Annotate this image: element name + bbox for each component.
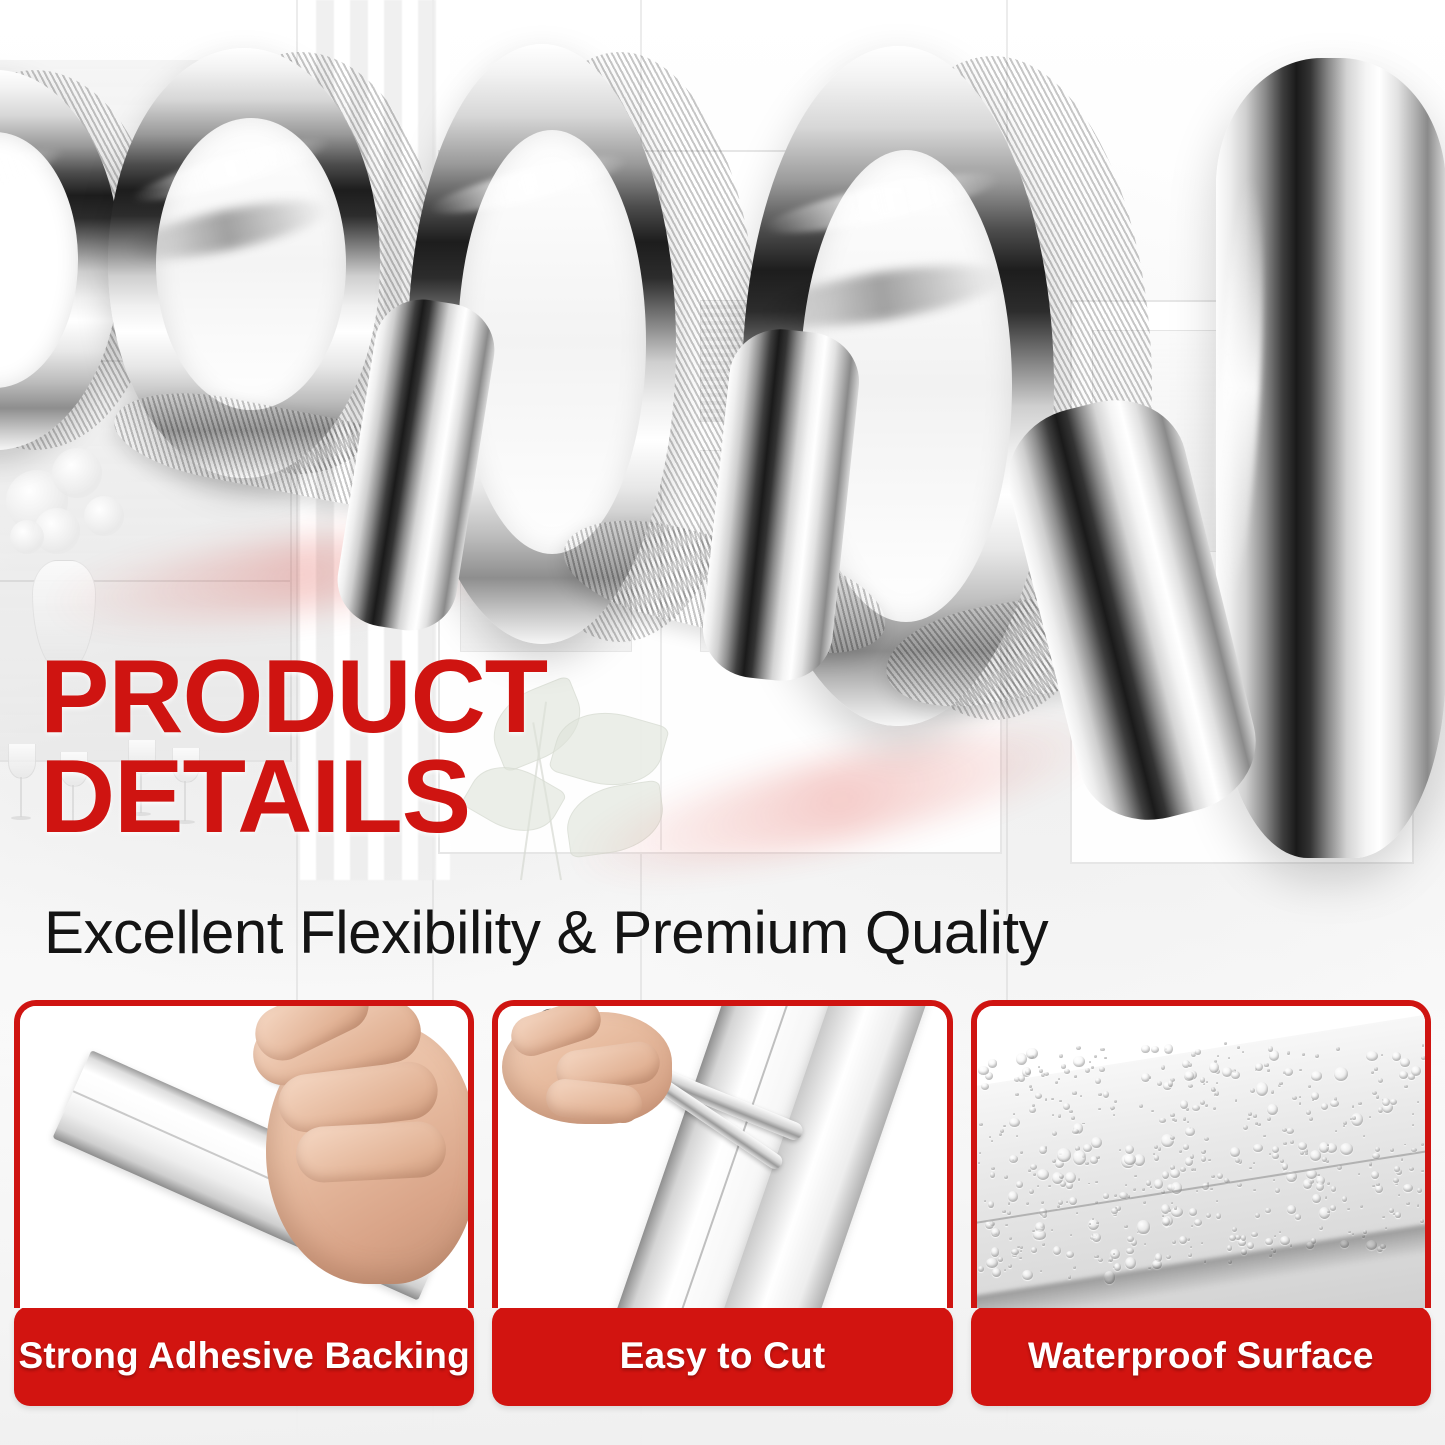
water-drop xyxy=(1143,1201,1146,1204)
water-drop xyxy=(1124,1225,1128,1228)
water-drop xyxy=(1057,1148,1071,1162)
water-drop xyxy=(984,1200,986,1202)
water-drop xyxy=(1141,1045,1150,1054)
water-drop xyxy=(1019,1257,1021,1259)
water-drop xyxy=(1022,1270,1032,1280)
water-drop xyxy=(992,1268,1002,1277)
water-drop xyxy=(990,1172,995,1178)
water-drop xyxy=(1187,1121,1190,1123)
water-drop xyxy=(1251,1232,1258,1238)
water-drop xyxy=(1003,1125,1006,1127)
water-drop xyxy=(1232,1227,1237,1232)
water-drop xyxy=(1376,1095,1380,1099)
water-drop xyxy=(1398,1194,1400,1196)
water-drop xyxy=(1066,1182,1072,1188)
water-drop xyxy=(1069,1110,1073,1113)
water-drop xyxy=(1091,1137,1102,1148)
water-drop xyxy=(1230,1147,1240,1157)
water-drop xyxy=(1284,1068,1293,1076)
water-drop xyxy=(1389,1208,1394,1213)
water-drop xyxy=(1008,1264,1012,1268)
water-drop xyxy=(1286,1128,1295,1135)
water-drop xyxy=(1311,1071,1322,1081)
water-drop xyxy=(1330,1100,1339,1107)
water-drop xyxy=(1241,1235,1246,1241)
water-drop xyxy=(1045,1098,1048,1101)
water-drop xyxy=(1229,1235,1236,1242)
water-drop xyxy=(1114,1100,1117,1103)
water-drop xyxy=(1180,1167,1186,1172)
water-drop xyxy=(1059,1054,1063,1058)
water-drop xyxy=(1100,1048,1105,1052)
page-title: PRODUCT DETAILS xyxy=(40,648,1040,848)
water-drop xyxy=(1401,1158,1403,1161)
water-drop xyxy=(1150,1186,1152,1188)
water-drop xyxy=(1171,1202,1173,1204)
water-drop xyxy=(1390,1099,1397,1105)
water-drop xyxy=(1029,1085,1032,1088)
water-drop xyxy=(1247,1118,1250,1120)
water-drop xyxy=(991,1140,994,1142)
water-drop xyxy=(1058,1114,1061,1117)
water-drop xyxy=(1037,1185,1039,1187)
water-drop xyxy=(1312,1099,1314,1101)
water-drop xyxy=(1179,1150,1182,1153)
water-drop xyxy=(1071,1116,1075,1120)
feature-card-waterproof[interactable]: Waterproof Surface xyxy=(971,1000,1431,1420)
water-drop xyxy=(1180,1100,1189,1109)
water-drop xyxy=(1217,1055,1219,1057)
water-drop xyxy=(1211,1175,1216,1179)
water-drop xyxy=(1319,1207,1330,1219)
water-drop xyxy=(1026,1202,1029,1205)
water-drop xyxy=(1072,1091,1076,1095)
water-drop xyxy=(1073,1150,1086,1165)
water-drop xyxy=(1399,1071,1408,1079)
water-drop xyxy=(1327,1182,1330,1186)
water-drop xyxy=(1099,1067,1104,1073)
water-drop xyxy=(1317,1174,1320,1177)
water-drop xyxy=(1029,1189,1034,1194)
water-drop xyxy=(1358,1102,1361,1105)
water-drop xyxy=(1366,1051,1378,1062)
water-drop xyxy=(1417,1204,1419,1207)
water-drop xyxy=(1005,1224,1008,1226)
water-drop xyxy=(1319,1226,1323,1230)
water-drop xyxy=(1159,1118,1166,1123)
water-drop xyxy=(1059,1100,1062,1103)
water-drop xyxy=(1029,1107,1036,1114)
feature-photo-frame xyxy=(971,1000,1431,1308)
water-drop xyxy=(1092,1233,1101,1243)
water-drop xyxy=(1009,1237,1012,1240)
water-drop xyxy=(1394,1166,1400,1172)
water-drop xyxy=(1020,1250,1023,1253)
water-drop xyxy=(1161,1065,1166,1070)
water-drop xyxy=(1144,1243,1146,1245)
water-drop xyxy=(1206,1213,1211,1218)
water-drop xyxy=(1164,1044,1173,1054)
water-drop xyxy=(1133,1188,1136,1191)
water-drop xyxy=(1158,1147,1161,1150)
water-drop xyxy=(1231,1071,1240,1079)
water-drop xyxy=(1208,1159,1210,1161)
water-drop xyxy=(1058,1078,1060,1080)
water-drop xyxy=(1390,1148,1394,1152)
water-drop xyxy=(1287,1205,1297,1214)
water-drop xyxy=(1331,1186,1336,1191)
water-drop xyxy=(1038,1066,1040,1068)
water-drop xyxy=(1191,1168,1194,1172)
water-drop xyxy=(1255,1063,1263,1071)
water-drop xyxy=(1039,1146,1047,1154)
water-drop xyxy=(1059,1174,1065,1180)
water-drop xyxy=(1274,1235,1276,1237)
water-drop xyxy=(1188,1063,1192,1067)
water-drop xyxy=(1055,1081,1058,1084)
water-drop xyxy=(1080,1095,1082,1097)
water-drop xyxy=(1187,1238,1191,1242)
water-drop xyxy=(1104,1057,1106,1059)
water-drop xyxy=(1154,1179,1163,1189)
water-drop xyxy=(1066,1251,1074,1258)
water-drop xyxy=(1073,1266,1076,1269)
water-drop xyxy=(1216,1200,1219,1202)
water-drop xyxy=(1191,1225,1194,1228)
water-drop xyxy=(1352,1105,1354,1107)
water-drop xyxy=(1299,1069,1302,1072)
water-drop xyxy=(1007,1211,1010,1215)
feature-card-list: Strong Adhesive Backing xyxy=(0,1000,1445,1420)
water-drop xyxy=(1174,1119,1177,1122)
water-drop xyxy=(1033,1173,1036,1176)
water-drop xyxy=(1213,1107,1216,1110)
water-drop xyxy=(1170,1136,1175,1140)
water-drop xyxy=(1085,1162,1089,1166)
water-drop xyxy=(1172,1240,1176,1244)
water-drop xyxy=(1308,1085,1311,1088)
water-drop xyxy=(1154,1155,1159,1161)
water-drop xyxy=(979,1152,981,1154)
water-drop xyxy=(1042,1243,1045,1246)
water-drop xyxy=(1184,1071,1194,1081)
water-drop xyxy=(1095,1078,1101,1084)
water-drop xyxy=(1263,1135,1265,1138)
water-drop-icon xyxy=(977,1006,1425,1308)
water-drop xyxy=(1420,1219,1424,1223)
water-drop xyxy=(1310,1150,1322,1161)
water-drop xyxy=(1204,1137,1209,1141)
water-drop xyxy=(1347,1208,1350,1210)
water-drop xyxy=(1035,1093,1042,1099)
water-drop xyxy=(1306,1110,1311,1115)
water-drop xyxy=(1052,1131,1057,1136)
water-drop xyxy=(1210,1188,1212,1190)
water-drop xyxy=(999,1133,1002,1136)
water-drop xyxy=(1326,1160,1330,1163)
water-drop xyxy=(1195,1049,1201,1054)
water-drop xyxy=(1092,1218,1094,1220)
water-drop xyxy=(1183,1117,1186,1121)
water-drop xyxy=(1089,1061,1091,1063)
water-drop xyxy=(1342,1196,1347,1201)
water-drop xyxy=(1305,1152,1308,1155)
water-drop xyxy=(1290,1140,1294,1144)
water-drop xyxy=(1422,1044,1424,1046)
water-drop xyxy=(1382,1098,1390,1106)
water-drop xyxy=(1125,1257,1136,1269)
water-drop xyxy=(1013,1113,1016,1115)
water-drop xyxy=(1162,1171,1169,1179)
water-drop xyxy=(988,1059,998,1067)
water-drop xyxy=(1069,1197,1076,1205)
water-drop xyxy=(1299,1102,1302,1105)
water-drop xyxy=(1052,1114,1055,1116)
feature-caption-waterproof: Waterproof Surface xyxy=(971,1306,1431,1406)
water-drop xyxy=(1151,1110,1154,1113)
water-drop xyxy=(1417,1101,1419,1103)
water-drop xyxy=(1020,1151,1023,1154)
water-drop xyxy=(979,1123,984,1127)
water-drop xyxy=(1376,1183,1379,1186)
water-drop xyxy=(1249,1167,1252,1169)
water-drop xyxy=(1209,1062,1219,1073)
water-drop xyxy=(1216,1082,1218,1084)
water-drop xyxy=(978,1162,980,1164)
water-drop xyxy=(1358,1173,1360,1175)
water-drop xyxy=(1348,1231,1351,1233)
water-drop xyxy=(1421,1056,1425,1060)
water-drop xyxy=(1042,1213,1047,1218)
water-drop xyxy=(1125,1184,1127,1186)
water-drop xyxy=(1303,1179,1313,1189)
water-drop xyxy=(1037,1169,1049,1180)
water-drop xyxy=(1395,1212,1400,1218)
water-drop xyxy=(1091,1066,1094,1069)
water-drop xyxy=(1149,1076,1152,1079)
water-drop xyxy=(1242,1051,1244,1053)
water-drop xyxy=(1404,1144,1406,1146)
water-drop xyxy=(998,1257,1004,1262)
feature-caption-adhesive: Strong Adhesive Backing xyxy=(14,1306,474,1406)
water-drop xyxy=(1406,1202,1410,1206)
water-drop xyxy=(1253,1144,1263,1152)
water-drop xyxy=(1279,1231,1281,1233)
water-drop xyxy=(1189,1208,1197,1215)
water-drop xyxy=(1375,1185,1383,1193)
water-drop xyxy=(1248,1112,1252,1116)
water-drop xyxy=(1269,1050,1279,1060)
water-drop xyxy=(1371,1171,1380,1179)
water-drop xyxy=(1094,1055,1098,1059)
water-drop xyxy=(1316,1182,1325,1191)
water-drop xyxy=(1016,1135,1018,1137)
water-drop xyxy=(1302,1053,1305,1056)
water-drop xyxy=(1015,1093,1019,1097)
water-drop xyxy=(1381,1054,1383,1056)
water-drop xyxy=(1186,1108,1188,1110)
water-drop xyxy=(1325,1196,1328,1199)
water-drop xyxy=(1088,1183,1090,1185)
water-drop xyxy=(1334,1067,1348,1081)
water-drop xyxy=(1272,1153,1279,1160)
water-drop xyxy=(1395,1183,1398,1185)
water-drop xyxy=(1253,1114,1257,1117)
water-drop xyxy=(1190,1154,1194,1158)
water-drop xyxy=(1309,1117,1313,1121)
feature-card-cut[interactable]: Easy to Cut xyxy=(492,1000,952,1420)
water-drop xyxy=(1190,1246,1192,1248)
water-drop xyxy=(1417,1188,1422,1193)
water-drop xyxy=(1137,1220,1149,1233)
water-drop xyxy=(1363,1135,1365,1137)
water-drop xyxy=(1201,1242,1203,1244)
water-drop xyxy=(1124,1154,1136,1165)
water-drop xyxy=(1032,1104,1035,1107)
water-drop xyxy=(1168,1080,1174,1086)
water-drop xyxy=(978,1266,984,1272)
water-drop xyxy=(1151,1046,1159,1053)
finger xyxy=(295,1120,448,1184)
water-drop xyxy=(1076,1046,1081,1050)
water-drop xyxy=(1162,1217,1170,1226)
water-drop xyxy=(991,1247,1000,1257)
water-drop xyxy=(991,1228,1000,1237)
water-drop xyxy=(1253,1162,1255,1164)
water-drop xyxy=(1222,1067,1232,1077)
water-drop xyxy=(1369,1116,1371,1119)
water-drop xyxy=(1051,1098,1053,1100)
scissors-icon xyxy=(498,1006,946,1308)
water-drop xyxy=(1142,1188,1145,1190)
water-drop xyxy=(1378,1078,1383,1083)
water-drop xyxy=(1267,1069,1269,1071)
water-drop xyxy=(1082,1123,1085,1125)
water-drop xyxy=(1295,1214,1302,1219)
water-drop xyxy=(1051,1229,1053,1231)
water-drop xyxy=(986,1258,998,1269)
water-drop xyxy=(1287,1051,1290,1054)
water-drop xyxy=(1126,1248,1134,1255)
water-drop xyxy=(1016,1181,1022,1188)
water-drop xyxy=(1179,1236,1187,1244)
water-drop xyxy=(1095,1181,1098,1184)
water-drop xyxy=(1336,1047,1340,1051)
feature-caption-cut: Easy to Cut xyxy=(492,1306,952,1406)
water-drop xyxy=(1282,1163,1288,1169)
water-drop xyxy=(1134,1175,1136,1177)
water-drop xyxy=(1382,1216,1385,1218)
water-drop xyxy=(1228,1057,1230,1059)
water-drop xyxy=(1004,1175,1009,1179)
water-drop xyxy=(1215,1091,1220,1096)
water-drop xyxy=(1103,1091,1109,1098)
water-drop xyxy=(1113,1114,1115,1116)
water-drop xyxy=(1267,1104,1278,1115)
water-drop xyxy=(1321,1103,1328,1110)
water-drop xyxy=(1280,1236,1291,1245)
water-drop xyxy=(1183,1144,1189,1150)
water-drop xyxy=(1194,1219,1202,1226)
water-drop xyxy=(1073,1056,1084,1067)
water-drop xyxy=(1408,1074,1414,1080)
water-drop xyxy=(1040,1270,1042,1272)
water-drop xyxy=(1272,1146,1279,1153)
water-drop xyxy=(1243,1125,1248,1130)
water-drop xyxy=(1247,1242,1254,1250)
water-drop xyxy=(1008,1202,1010,1204)
water-drop xyxy=(1016,1053,1027,1065)
water-drop xyxy=(1170,1169,1181,1178)
water-drop xyxy=(1371,1071,1374,1074)
water-drop xyxy=(1033,1230,1045,1240)
water-drop xyxy=(1076,1212,1078,1214)
water-drop xyxy=(1235,1158,1240,1163)
feature-card-adhesive[interactable]: Strong Adhesive Backing xyxy=(14,1000,474,1420)
water-drop xyxy=(1330,1205,1336,1211)
water-drop xyxy=(1216,1213,1221,1218)
water-drop xyxy=(1412,1113,1414,1115)
water-drop xyxy=(1009,1118,1020,1128)
water-drop xyxy=(1098,1093,1102,1096)
water-drop xyxy=(1146,1180,1152,1186)
water-drop xyxy=(1002,1210,1005,1213)
water-drop xyxy=(1192,1105,1200,1111)
water-drop xyxy=(1200,1100,1205,1106)
water-drop xyxy=(1282,1128,1287,1132)
water-drop xyxy=(1119,1149,1121,1151)
water-drop xyxy=(1078,1178,1081,1181)
water-drop xyxy=(1188,1253,1192,1256)
water-drop xyxy=(1068,1275,1072,1279)
water-drop xyxy=(1074,1075,1077,1078)
water-drop xyxy=(1412,1124,1415,1126)
water-drop xyxy=(1061,1064,1067,1069)
water-drop xyxy=(1066,1201,1068,1203)
water-drop xyxy=(1041,1201,1044,1204)
water-drop xyxy=(1275,1188,1280,1193)
water-drop xyxy=(1004,1269,1006,1271)
water-drop xyxy=(1031,1247,1037,1253)
water-drop xyxy=(1264,1063,1268,1067)
water-drop xyxy=(1400,1058,1409,1068)
feature-photo-frame xyxy=(14,1000,474,1308)
water-drop xyxy=(1020,1246,1023,1250)
water-drop xyxy=(1201,1156,1206,1162)
water-drop xyxy=(1090,1156,1098,1163)
water-drop xyxy=(1048,1185,1051,1188)
water-drop xyxy=(1335,1130,1337,1132)
water-drop xyxy=(1360,1205,1363,1208)
water-drop xyxy=(1267,1117,1271,1121)
water-drop xyxy=(1065,1172,1076,1184)
water-drop xyxy=(1196,1190,1198,1192)
water-drop xyxy=(1039,1069,1043,1073)
water-drop xyxy=(1279,1082,1282,1085)
water-drop xyxy=(1421,1170,1424,1172)
feature-photo-frame xyxy=(492,1000,952,1308)
water-drop xyxy=(1030,1088,1032,1090)
water-drop xyxy=(1098,1258,1103,1262)
water-drop xyxy=(1188,1084,1193,1088)
water-drop xyxy=(1340,1143,1353,1155)
water-drop xyxy=(1256,1082,1268,1096)
product-detail-infographic: PRODUCT DETAILS Excellent Flexibility & … xyxy=(0,0,1445,1445)
water-drop xyxy=(1421,1143,1424,1146)
water-drop xyxy=(1125,1145,1134,1154)
water-drop xyxy=(1312,1194,1320,1203)
water-drop xyxy=(1185,1127,1195,1136)
